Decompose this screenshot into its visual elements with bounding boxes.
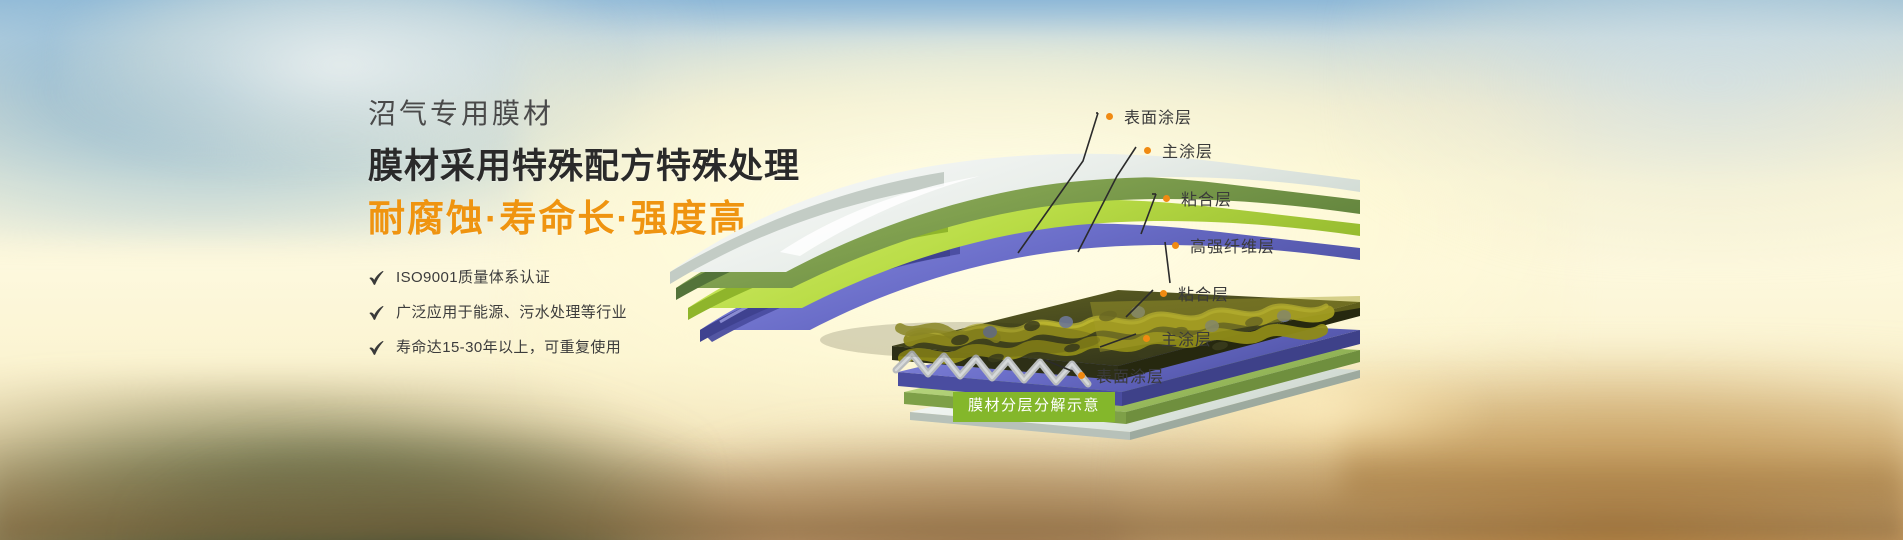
check-icon — [368, 340, 385, 357]
list-item-label: 寿命达15-30年以上，可重复使用 — [396, 339, 621, 357]
check-icon — [368, 305, 385, 322]
check-icon — [368, 270, 385, 287]
background-right-haze — [1343, 0, 1903, 260]
list-item-label: ISO9001质量体系认证 — [396, 269, 550, 287]
list-item-label: 广泛应用于能源、污水处理等行业 — [396, 304, 627, 322]
background-bottom-band — [0, 450, 1903, 540]
status-badge: 膜材分层分解示意 — [953, 392, 1115, 422]
status-badge-label: 膜材分层分解示意 — [968, 397, 1100, 414]
hero-banner: 沼气专用膜材 膜材采用特殊配方特殊处理 耐腐蚀·寿命长·强度高 ISO9001质… — [0, 0, 1903, 540]
